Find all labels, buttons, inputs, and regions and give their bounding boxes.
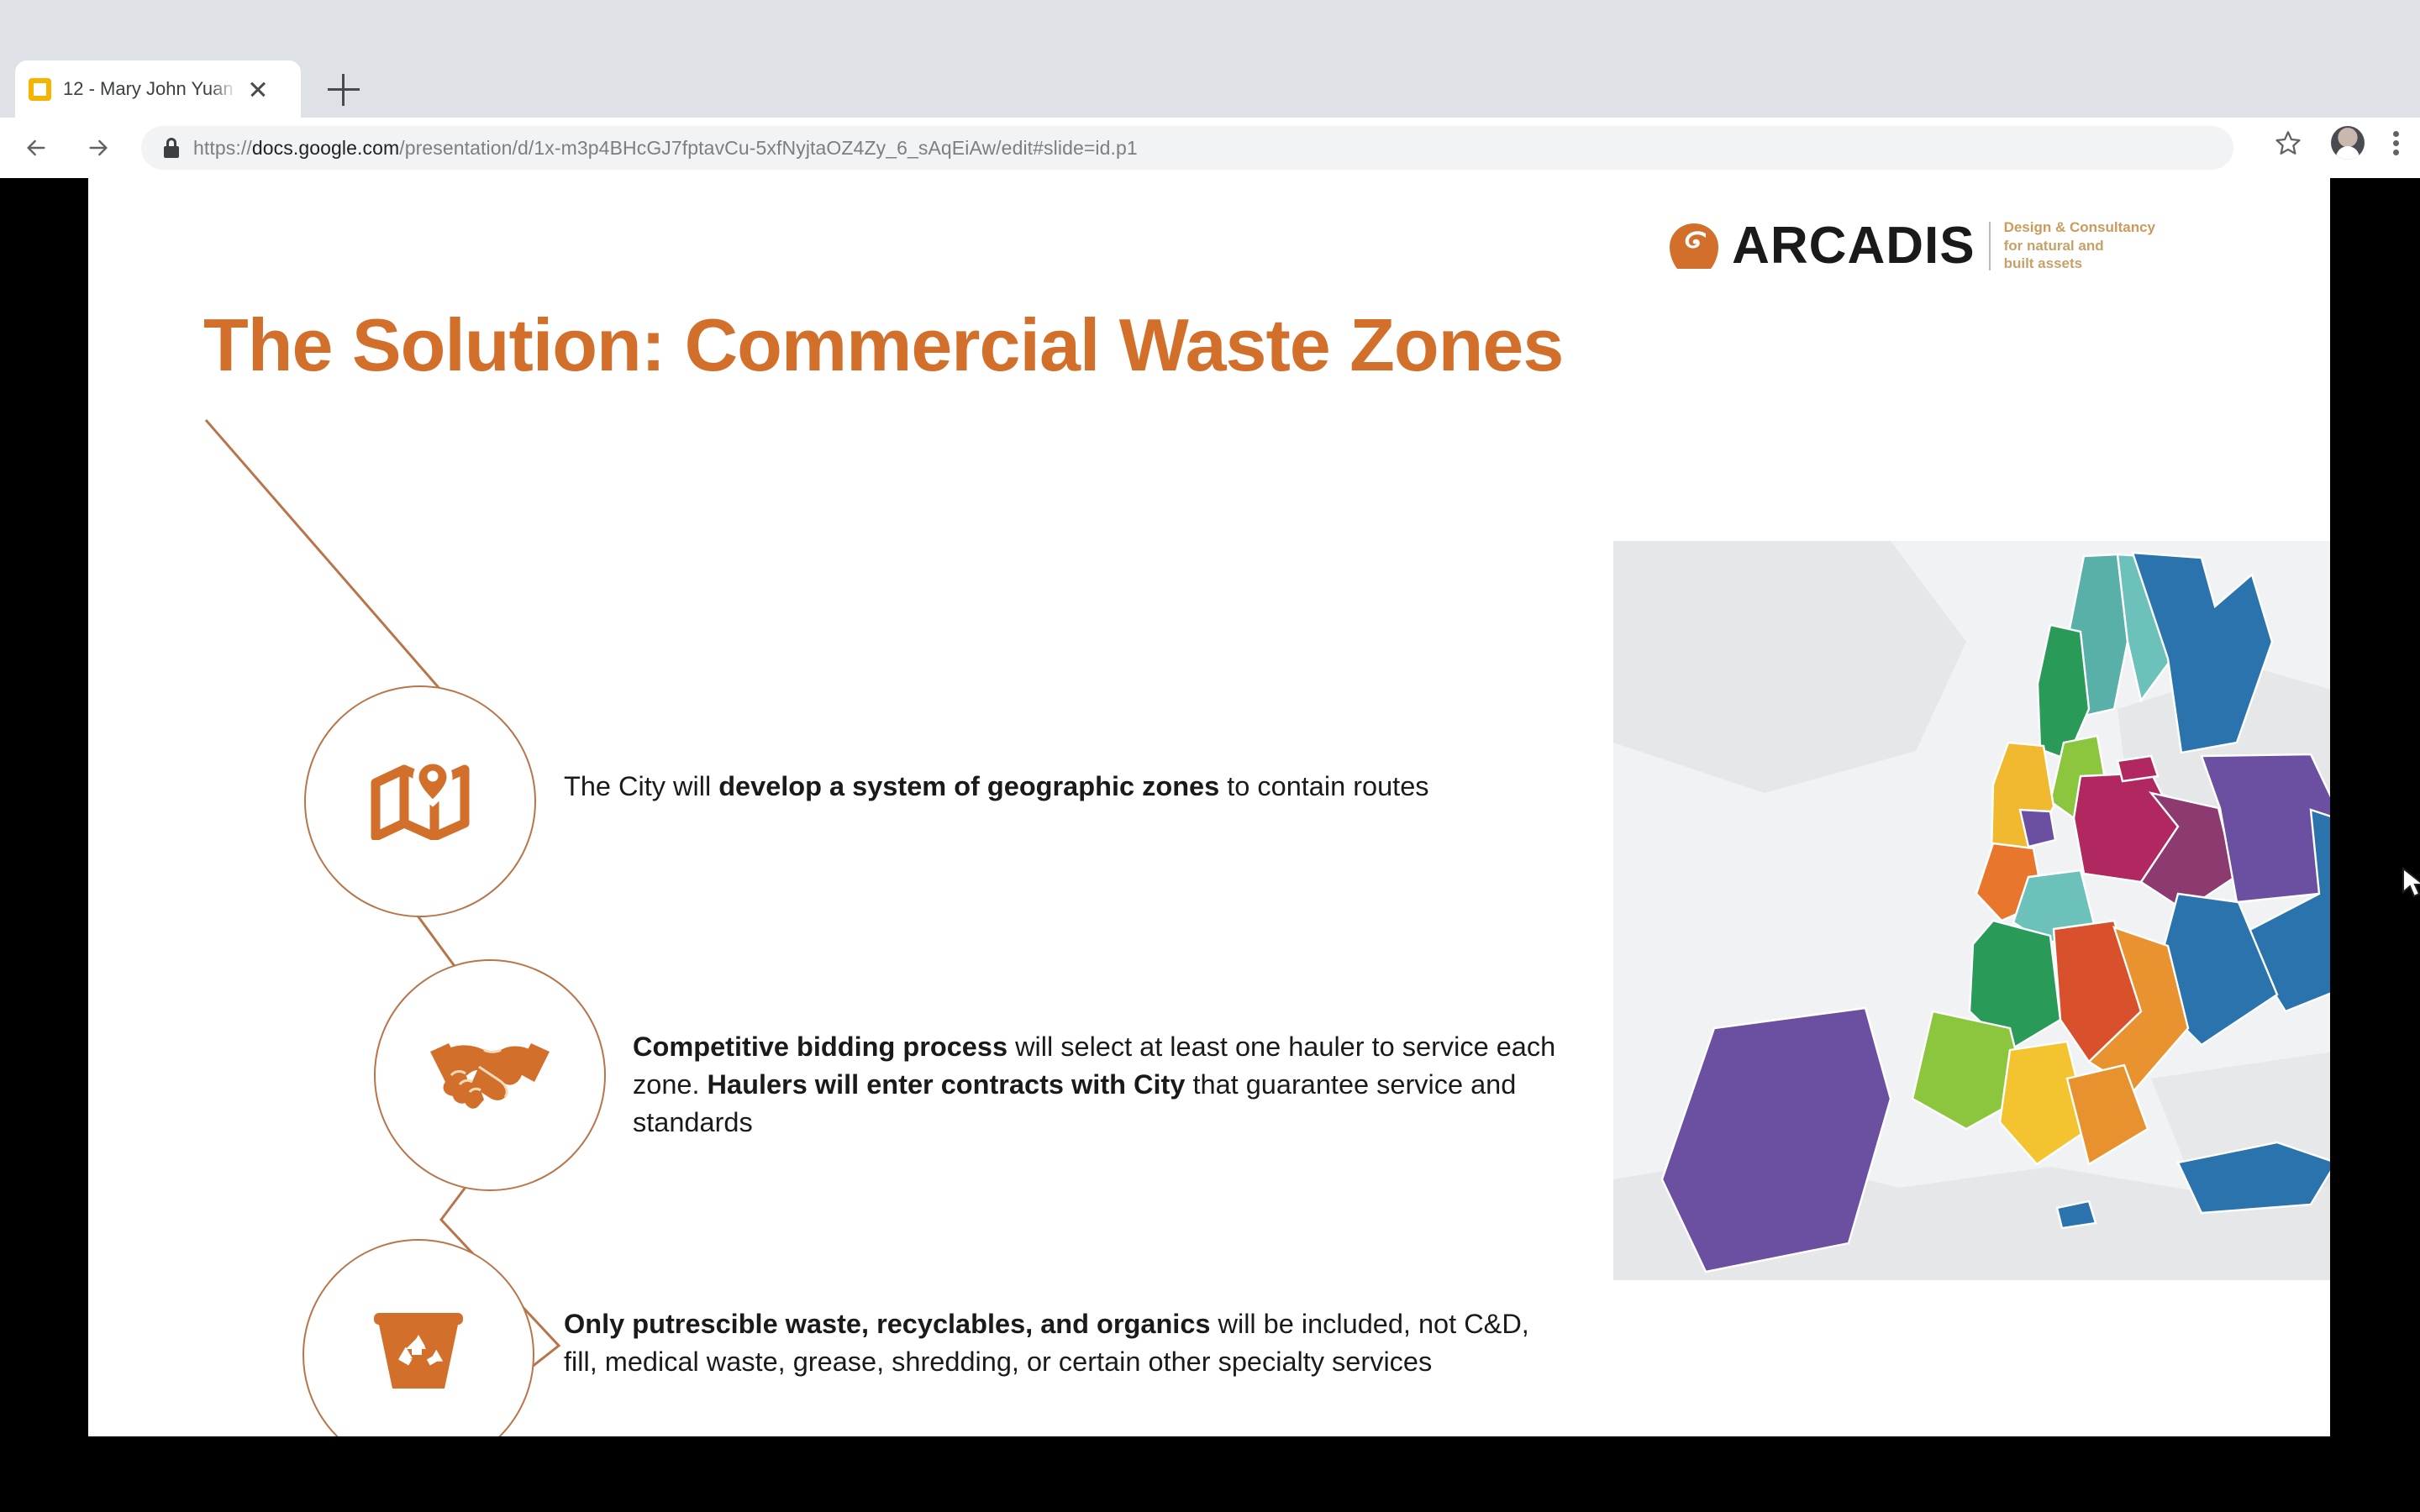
point-1-tail: to contain routes <box>1219 771 1428 801</box>
point-2-circle <box>374 959 606 1191</box>
url-path: /presentation/d/1x-m3p4BHcGJ7fptavCu-5xf… <box>399 137 1138 159</box>
tab-title: 12 - Mary John Yuan Shi - Goo <box>63 78 238 100</box>
tagline-line-2: for natural and <box>2004 237 2155 255</box>
url-scheme: https:// <box>193 137 252 159</box>
arcadis-wordmark: ARCADIS <box>1732 216 1975 276</box>
google-slides-favicon <box>29 78 51 101</box>
arcadis-swirl-icon <box>1668 222 1720 270</box>
arcadis-logo: ARCADIS Design & Consultancy for natural… <box>1668 216 2155 276</box>
point-2-text: Competitive bidding process will select … <box>633 1028 1561 1142</box>
close-icon[interactable] <box>246 77 270 101</box>
arcadis-tagline: Design & Consultancy for natural and bui… <box>2004 218 2155 273</box>
logo-divider <box>1989 222 1991 270</box>
point-1-circle <box>304 685 536 917</box>
url-host: docs.google.com <box>252 137 399 159</box>
point-3-bold: Only putrescible waste, recyclables, and… <box>564 1309 1210 1339</box>
new-tab-button[interactable] <box>328 74 360 106</box>
point-2-bold-1: Competitive bidding process <box>633 1032 1007 1062</box>
handshake-icon <box>427 1033 553 1118</box>
presentation-stage: ARCADIS Design & Consultancy for natural… <box>0 178 2420 1512</box>
tagline-line-3: built assets <box>2004 255 2155 273</box>
recycle-bin-icon <box>372 1311 465 1399</box>
profile-avatar[interactable] <box>2331 126 2365 160</box>
browser-tab[interactable]: 12 - Mary John Yuan Shi - Goo <box>15 60 301 118</box>
tagline-line-1: Design & Consultancy <box>2004 218 2155 237</box>
toolbar-actions <box>2274 126 2402 160</box>
nyc-waste-zones-map <box>1613 541 2330 1280</box>
mouse-cursor <box>2402 867 2420 902</box>
url-text: https://docs.google.com/presentation/d/1… <box>193 137 1138 160</box>
slide-canvas[interactable]: ARCADIS Design & Consultancy for natural… <box>88 178 2330 1436</box>
point-1-text: The City will develop a system of geogra… <box>564 768 1530 806</box>
secure-lock-icon <box>163 138 180 158</box>
bookmark-star-icon[interactable] <box>2274 129 2302 157</box>
forward-arrow-icon[interactable] <box>72 122 124 174</box>
back-arrow-icon[interactable] <box>10 122 62 174</box>
point-2-bold-2: Haulers will enter contracts with City <box>708 1069 1186 1100</box>
point-1-bold: develop a system of geographic zones <box>718 771 1219 801</box>
map-pin-icon <box>371 759 470 844</box>
point-3-text: Only putrescible waste, recyclables, and… <box>564 1305 1560 1381</box>
point-1-lead: The City will <box>564 771 718 801</box>
tab-strip: 12 - Mary John Yuan Shi - Goo <box>0 60 2420 118</box>
browser-chrome: 12 - Mary John Yuan Shi - Goo https://do… <box>0 0 2420 178</box>
browser-toolbar: https://docs.google.com/presentation/d/1… <box>0 118 2420 178</box>
address-bar[interactable]: https://docs.google.com/presentation/d/1… <box>141 126 2233 170</box>
three-dot-menu-icon[interactable] <box>2393 126 2402 160</box>
slide-title: The Solution: Commercial Waste Zones <box>203 302 1563 388</box>
